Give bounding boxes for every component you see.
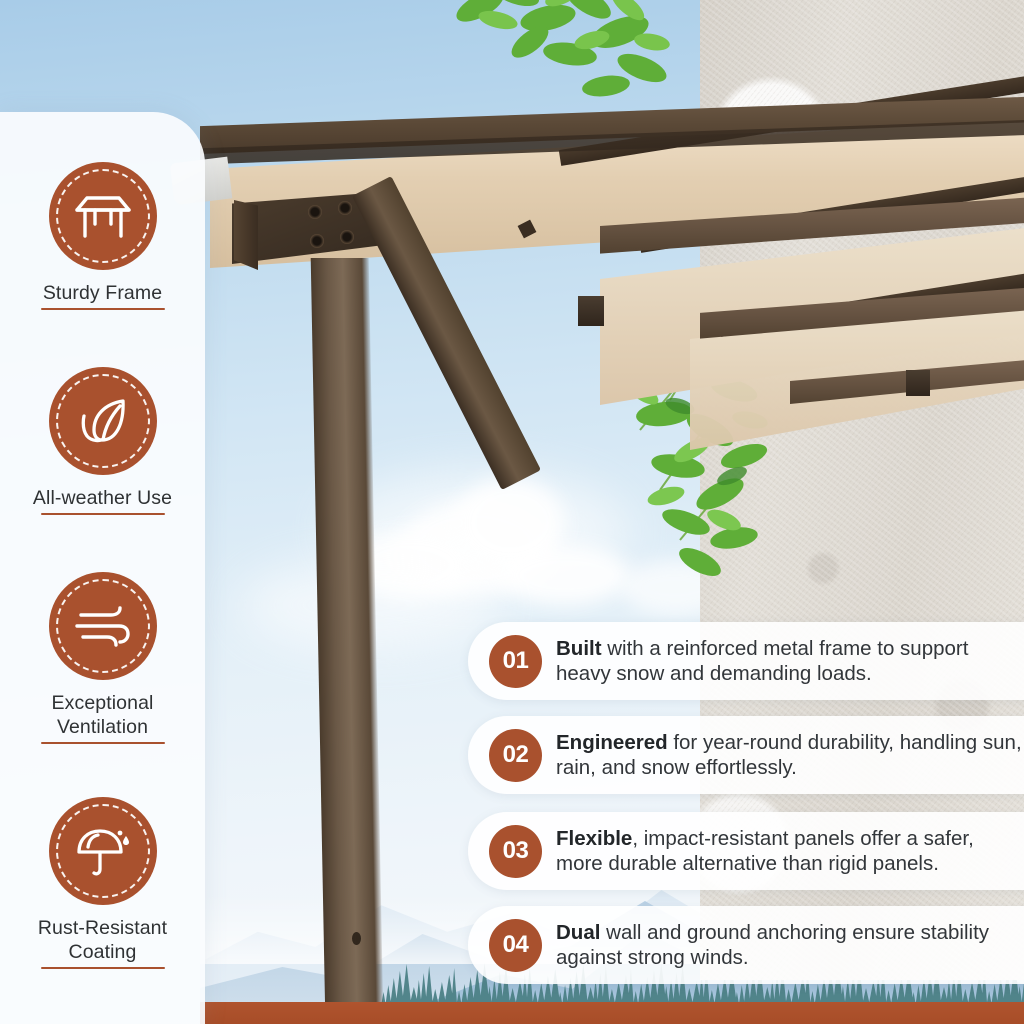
leaf-icon — [49, 367, 157, 475]
callout-01[interactable]: 01 Built with a reinforced metal frame t… — [468, 622, 1024, 700]
sidebar-item-exceptional-ventilation[interactable]: Exceptional Ventilation — [0, 572, 205, 744]
umbrella-rain-icon — [49, 797, 157, 905]
callout-lead: Built — [556, 637, 602, 660]
bolt — [308, 205, 322, 219]
bottom-accent-bar — [200, 1002, 1024, 1024]
label-underline — [41, 513, 165, 515]
bolt — [340, 230, 354, 244]
sidebar-item-label: Rust-Resistant Coating — [35, 916, 170, 964]
wind-icon — [49, 572, 157, 680]
infographic-canvas: Sturdy Frame All-weather Use — [0, 0, 1024, 1024]
sidebar-item-label: Sturdy Frame — [40, 281, 165, 305]
callout-text: Engineered for year-round durability, ha… — [556, 730, 1024, 780]
callout-lead: Engineered — [556, 731, 668, 754]
sidebar-item-label: Exceptional Ventilation — [49, 691, 157, 739]
callout-03[interactable]: 03 Flexible, impact-resistant panels off… — [468, 812, 1024, 890]
beam-end-cap — [234, 200, 258, 270]
callout-rest: with a reinforced metal frame to support… — [556, 637, 968, 685]
label-line-2: Ventilation — [57, 716, 148, 738]
callout-number: 02 — [489, 729, 542, 782]
callout-text: Flexible, impact-resistant panels offer … — [556, 826, 1024, 876]
label-underline — [41, 308, 165, 310]
sidebar-item-label: All-weather Use — [30, 486, 175, 510]
label-line-1: Exceptional — [52, 692, 154, 714]
callout-number: 04 — [489, 919, 542, 972]
label-underline — [41, 967, 165, 969]
bolt — [338, 201, 352, 215]
callout-lead: Dual — [556, 921, 600, 944]
wall-mount-bracket — [906, 370, 930, 396]
sidebar-item-all-weather-use[interactable]: All-weather Use — [0, 367, 205, 515]
label-line-2: Coating — [69, 941, 137, 963]
features-sidebar: Sturdy Frame All-weather Use — [0, 112, 205, 1024]
callout-04[interactable]: 04 Dual wall and ground anchoring ensure… — [468, 906, 1024, 984]
callout-number: 01 — [489, 635, 542, 688]
post-bolt — [352, 932, 361, 945]
sidebar-item-sturdy-frame[interactable]: Sturdy Frame — [0, 162, 205, 310]
wall-mount-bracket — [578, 296, 604, 326]
callout-rest: wall and ground anchoring ensure stabili… — [556, 921, 989, 969]
bolt — [310, 234, 324, 248]
callout-lead: Flexible — [556, 827, 632, 850]
callout-text: Dual wall and ground anchoring ensure st… — [556, 920, 1024, 970]
label-underline — [41, 742, 165, 744]
table-frame-icon — [49, 162, 157, 270]
label-line-1: Rust-Resistant — [38, 917, 167, 939]
callout-text: Built with a reinforced metal frame to s… — [556, 636, 1024, 686]
sidebar-item-rust-resistant-coating[interactable]: Rust-Resistant Coating — [0, 797, 205, 969]
callout-number: 03 — [489, 825, 542, 878]
callout-02[interactable]: 02 Engineered for year-round durability,… — [468, 716, 1024, 794]
